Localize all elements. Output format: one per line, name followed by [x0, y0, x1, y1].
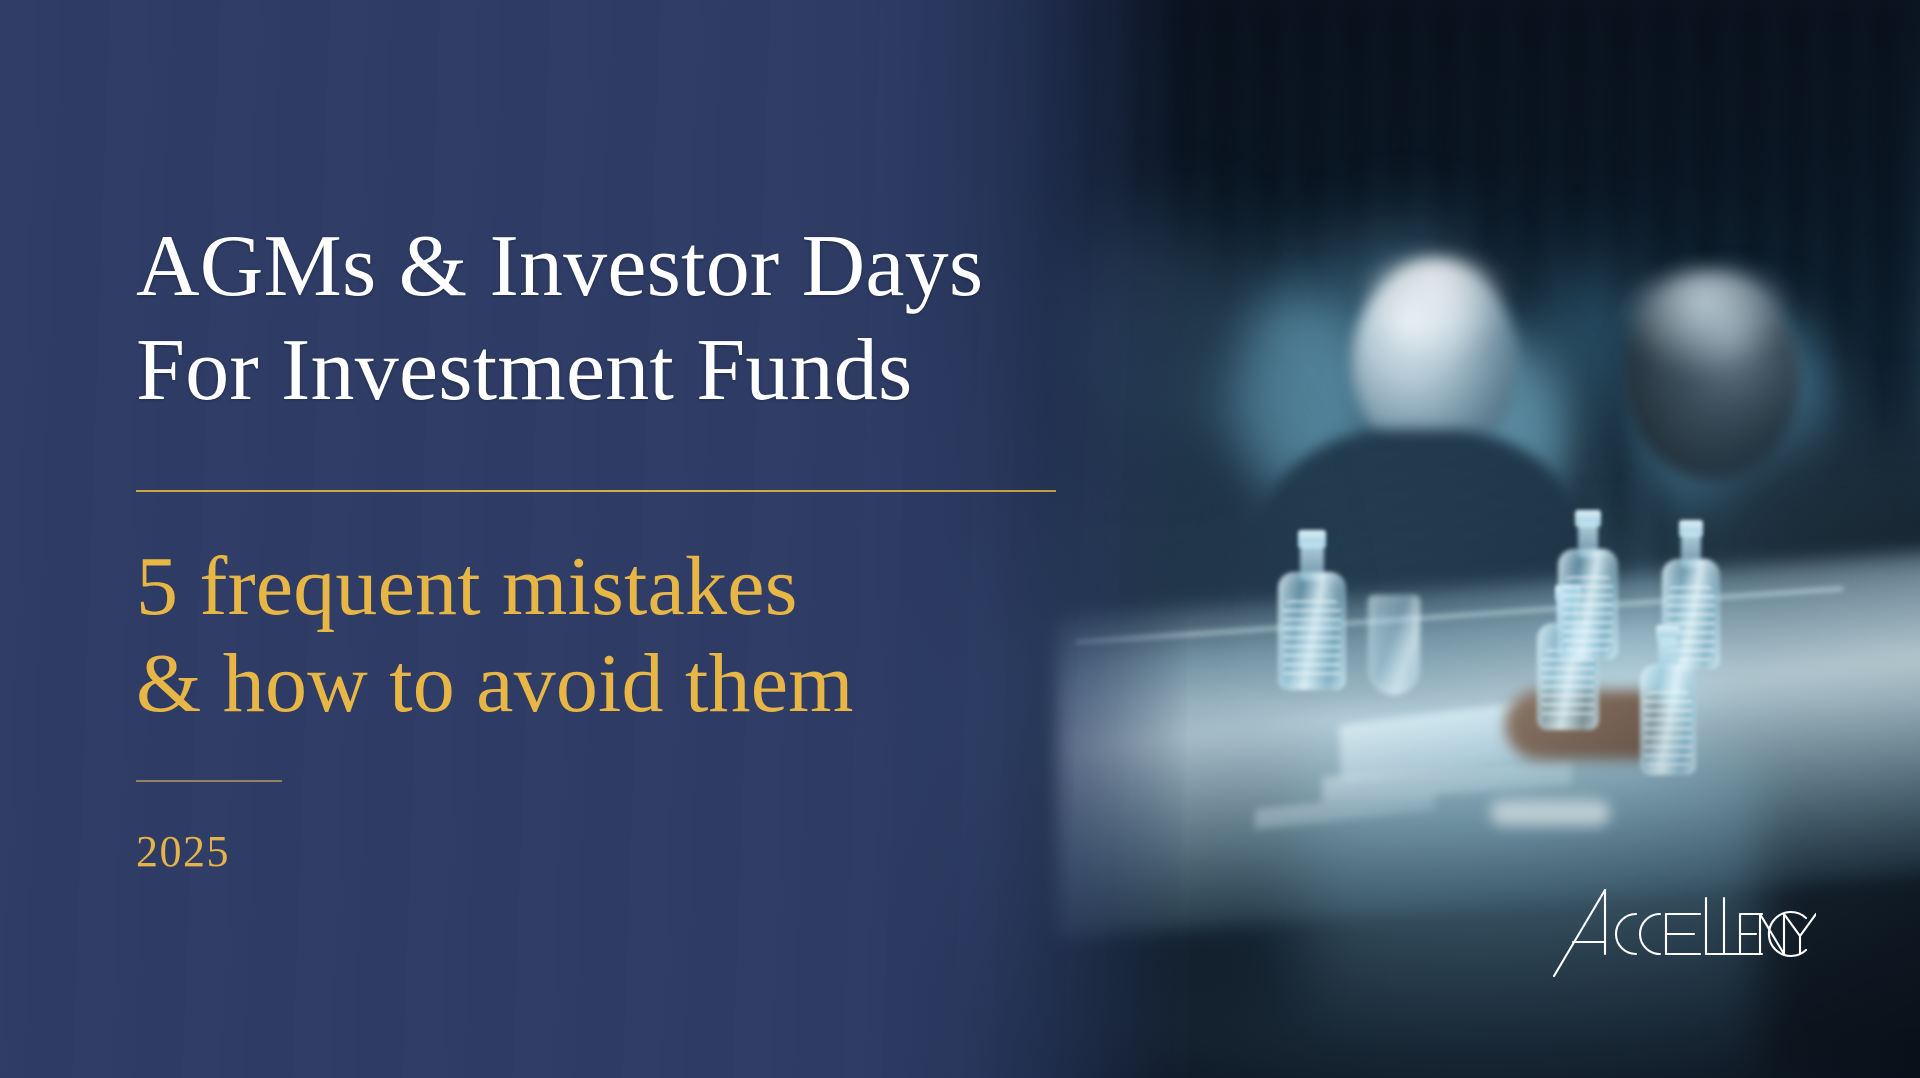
table-small-objects	[1490, 800, 1610, 826]
logo-wordmark-icon	[1548, 880, 1816, 984]
water-bottle-3	[1558, 510, 1618, 660]
gold-divider-top	[136, 490, 1056, 492]
title-slide: AGMs & Investor Days For Investment Fund…	[0, 0, 1920, 1078]
water-bottle-5	[1640, 625, 1696, 775]
subtitle: 5 frequent mistakes & how to avoid them	[136, 538, 854, 733]
text-content-block: AGMs & Investor Days For Investment Fund…	[136, 0, 1116, 1078]
water-bottle-1	[1278, 530, 1346, 690]
foreground-head-bald-rimlight	[1346, 256, 1524, 376]
accellency-logo: ACCELLENCY	[1548, 880, 1816, 984]
gold-divider-bottom	[136, 780, 282, 782]
drinking-glass-1	[1368, 595, 1420, 695]
year-label: 2025	[136, 826, 230, 877]
foreground-hair-rimlight	[1618, 268, 1808, 388]
page-title: AGMs & Investor Days For Investment Fund…	[136, 215, 983, 423]
